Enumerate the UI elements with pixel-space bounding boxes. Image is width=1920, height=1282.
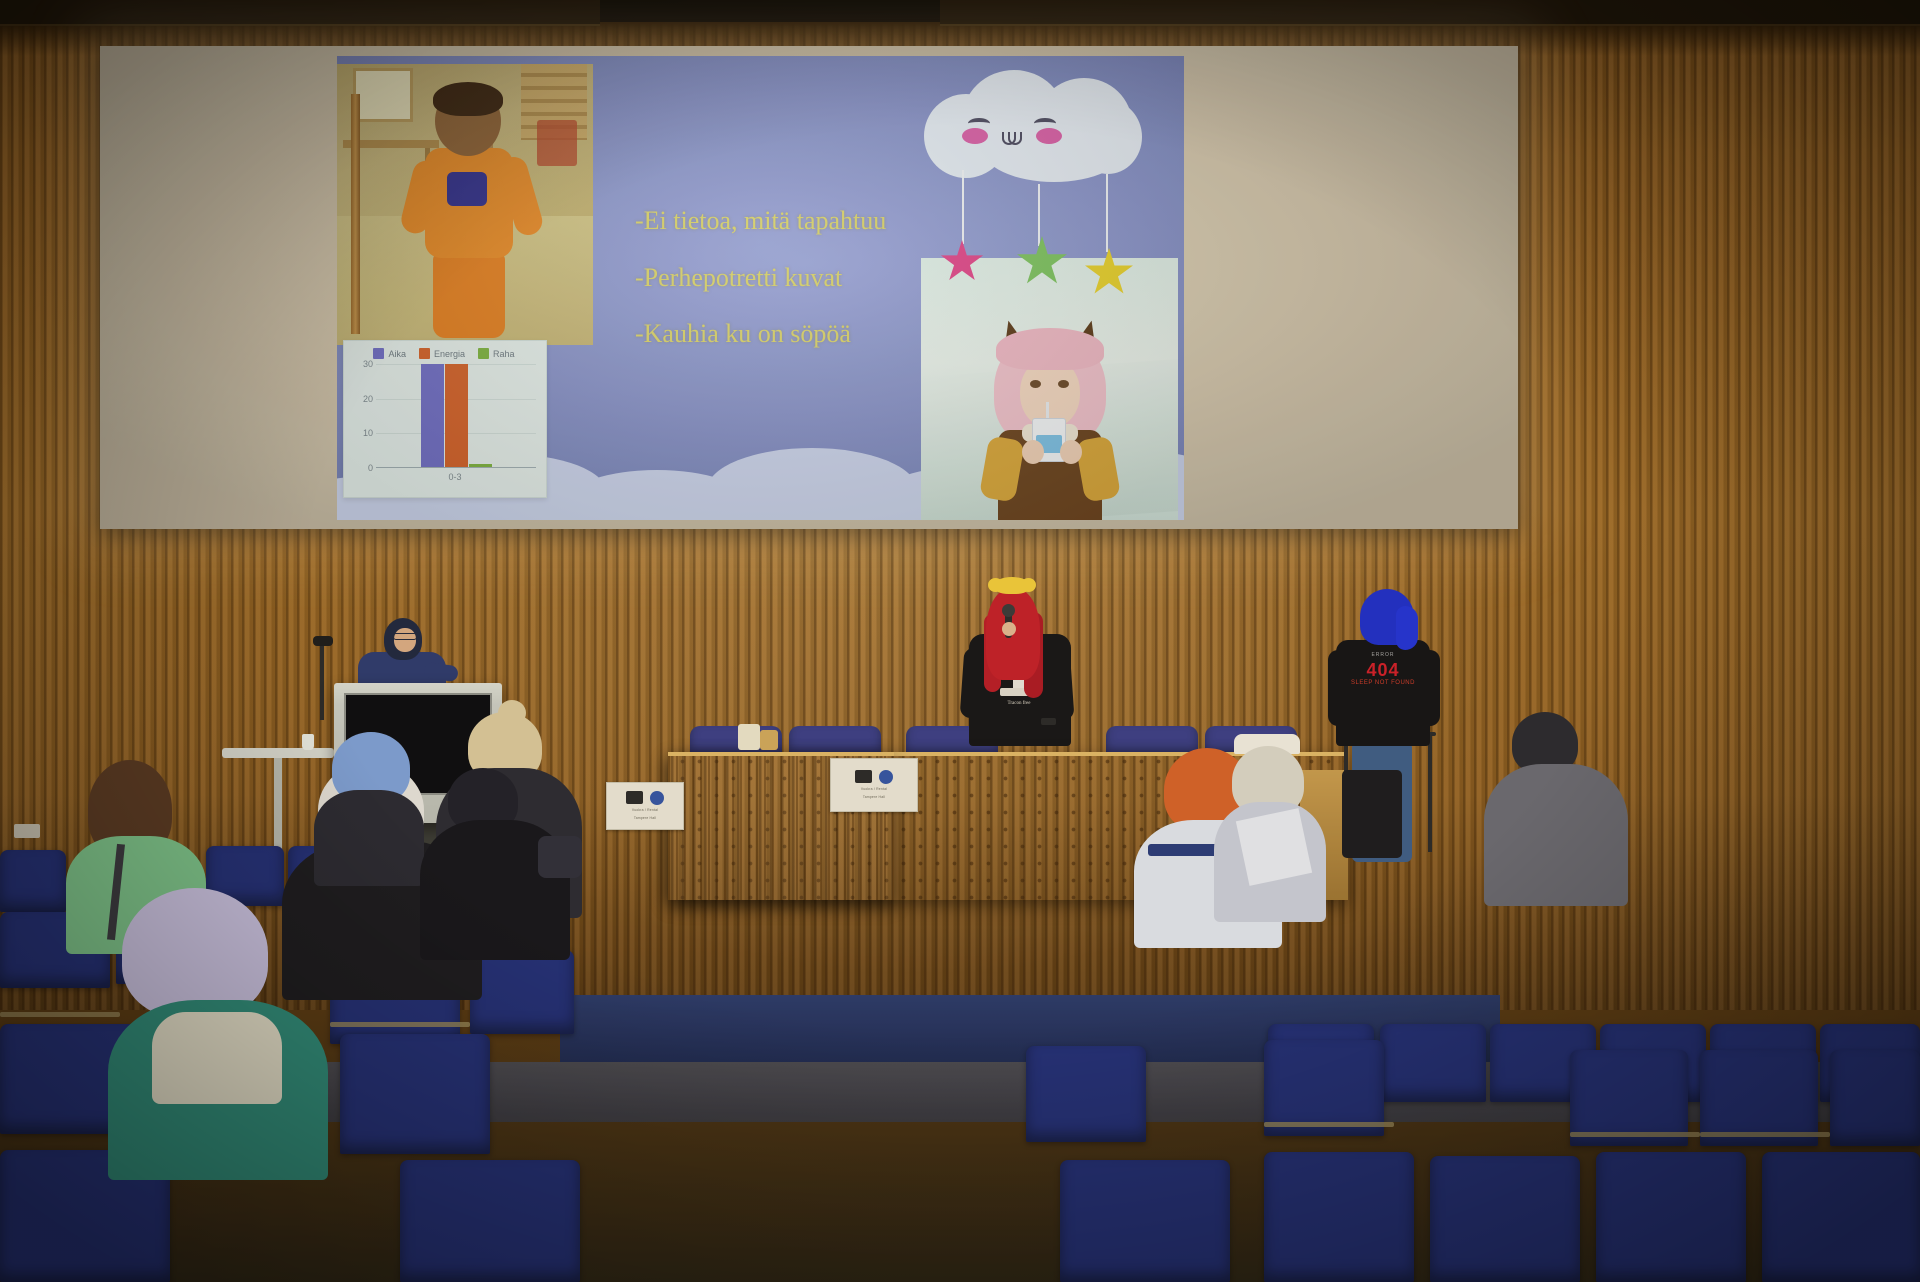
seat	[1264, 1152, 1414, 1282]
slide-bullet-1: -Ei tietoa, mitä tapahtuu	[635, 206, 935, 237]
podium-sign-center-line2: Tampere Hall	[863, 795, 885, 800]
bar-aika	[421, 364, 444, 468]
seat-rail	[0, 1012, 120, 1017]
seat-rail	[1700, 1132, 1830, 1137]
sign-logo-b-icon-2	[879, 770, 893, 784]
chart-plot-area: 30 20 10 0	[350, 364, 538, 468]
y-tick-10: 10	[363, 428, 373, 438]
podium-sign-left-line1: Vuokra / Rental	[632, 808, 658, 813]
child-figure	[980, 314, 1120, 520]
seat	[400, 1160, 580, 1282]
ceiling-strip-left	[0, 0, 600, 26]
sign-logo-a-icon	[626, 791, 643, 804]
podium-sign-center-line1: Vuokra / Rental	[861, 787, 887, 792]
ceiling-strip-right	[940, 0, 1920, 26]
star-yellow-icon	[1084, 248, 1134, 298]
chart-x-tick-label: 0-3	[372, 472, 538, 482]
seat	[1380, 1024, 1486, 1102]
legend-swatch-energia	[419, 348, 430, 359]
slide-bullet-3: -Kauhia ku on söpöä	[635, 319, 935, 350]
panelist-shirt-subtext: SLEEP NOT FOUND	[1348, 680, 1418, 686]
side-table	[222, 748, 334, 758]
desk-container	[738, 724, 760, 750]
legend-swatch-raha	[478, 348, 489, 359]
seat-rail	[330, 1022, 470, 1027]
legend-item-aika: Aika	[373, 348, 406, 359]
podium-sign-center: Vuokra / Rental Tampere Hall	[830, 758, 918, 812]
seat	[470, 950, 574, 1034]
toddler-figure	[411, 86, 529, 336]
moderator-glasses-icon	[393, 633, 417, 640]
seat-rail	[1264, 1122, 1394, 1127]
slide-bar-chart: Aika Energia Raha	[343, 340, 547, 498]
toddler-photo	[337, 64, 593, 345]
sign-logo-b-icon	[650, 791, 664, 805]
lectern-mic-stand	[320, 640, 324, 720]
auditorium-scene: -Ei tietoa, mitä tapahtuu -Perhepotretti…	[0, 0, 1920, 1282]
podium-sign-left-line2: Tampere Hall	[634, 816, 656, 821]
cloud-blush-left	[962, 128, 988, 144]
cloud-blush-right	[1036, 128, 1062, 144]
seat	[1026, 1046, 1146, 1142]
slide-bullet-list: -Ei tietoa, mitä tapahtuu -Perhepotretti…	[635, 206, 935, 376]
cloud-mouth-icon	[1002, 132, 1022, 144]
ceiling-panel-center	[600, 0, 940, 22]
legend-label-aika: Aika	[388, 349, 406, 359]
y-tick-0: 0	[368, 463, 373, 473]
seat-rail	[1570, 1132, 1700, 1137]
seat	[1430, 1156, 1580, 1282]
side-table-cup	[302, 734, 314, 750]
seat	[340, 1034, 490, 1154]
slide-bullet-2: -Perhepotretti kuvat	[635, 263, 935, 294]
y-tick-20: 20	[363, 394, 373, 404]
legend-label-energia: Energia	[434, 349, 465, 359]
podium-sign-left: Vuokra / Rental Tampere Hall	[606, 782, 684, 830]
kawaii-cloud-decoration	[916, 62, 1166, 332]
chart-y-axis: 30 20 10 0	[350, 364, 376, 468]
seat	[1060, 1160, 1230, 1282]
presentation-slide: -Ei tietoa, mitä tapahtuu -Perhepotretti…	[337, 56, 1184, 520]
y-tick-30: 30	[363, 359, 373, 369]
legend-swatch-aika	[373, 348, 384, 359]
side-table-leg	[274, 758, 282, 850]
star-pink-icon	[940, 240, 984, 284]
sign-logo-a-icon-2	[855, 770, 872, 783]
legend-item-raha: Raha	[478, 348, 515, 359]
seat	[1830, 1050, 1920, 1146]
speaker-wristband	[1041, 718, 1056, 725]
legend-label-raha: Raha	[493, 349, 515, 359]
cloud-icon	[924, 70, 1142, 182]
wall-outlet	[14, 824, 40, 838]
speaker-shirt-text: Tracon free	[1000, 701, 1038, 706]
luggage-bag	[1342, 770, 1402, 858]
bar-energia	[445, 364, 468, 468]
chart-legend: Aika Energia Raha	[350, 348, 538, 359]
moderator-face	[394, 628, 416, 652]
speaker-hair-bow	[994, 577, 1030, 594]
panelist-shirt-404-text: 404	[1352, 660, 1414, 681]
seat	[1762, 1152, 1920, 1282]
seat	[1596, 1152, 1746, 1282]
legend-item-energia: Energia	[419, 348, 465, 359]
chart-x-axis	[376, 467, 536, 468]
lectern-microphone-icon	[313, 636, 333, 646]
panelist-shirt-error-text: ERROR	[1352, 652, 1414, 658]
desk-cup	[760, 730, 778, 750]
chart-bars	[376, 364, 536, 468]
projection-screen: -Ei tietoa, mitä tapahtuu -Perhepotretti…	[100, 46, 1518, 529]
seat	[0, 850, 66, 912]
star-green-icon	[1016, 236, 1068, 288]
